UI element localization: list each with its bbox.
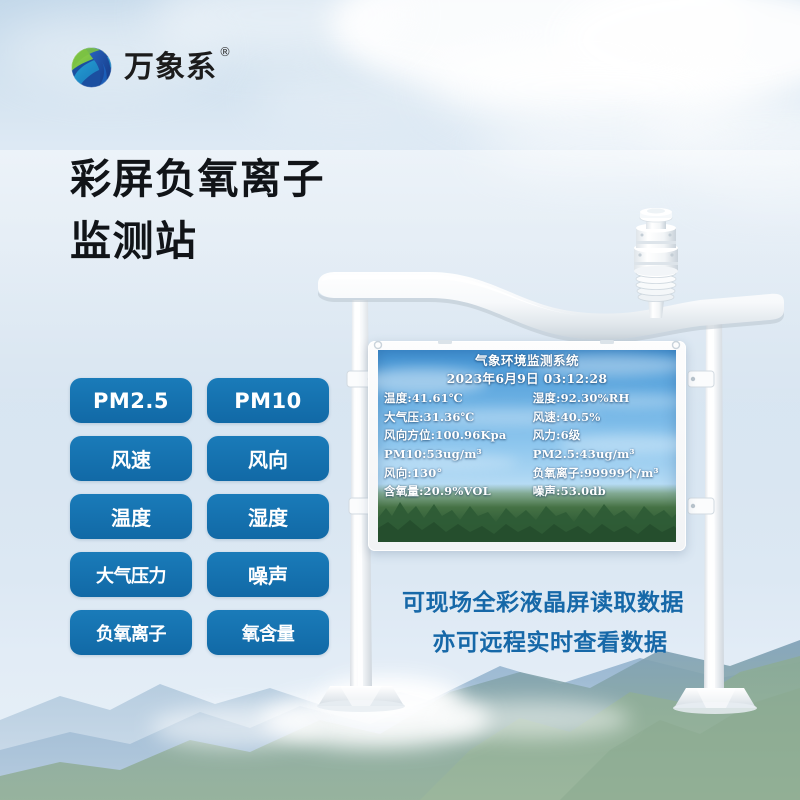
screen-mount-hardware [0,0,800,800]
caption-line-2: 亦可远程实时查看数据 [388,624,698,664]
caption-line-1: 可现场全彩液晶屏读取数据 [388,584,698,624]
product-marketing-image: 万象系 ® 彩屏负氧离子 监测站 PM2.5 PM10 风速 风向 温度 湿度 … [0,0,800,800]
marketing-caption: 可现场全彩液晶屏读取数据 亦可远程实时查看数据 [388,584,698,663]
